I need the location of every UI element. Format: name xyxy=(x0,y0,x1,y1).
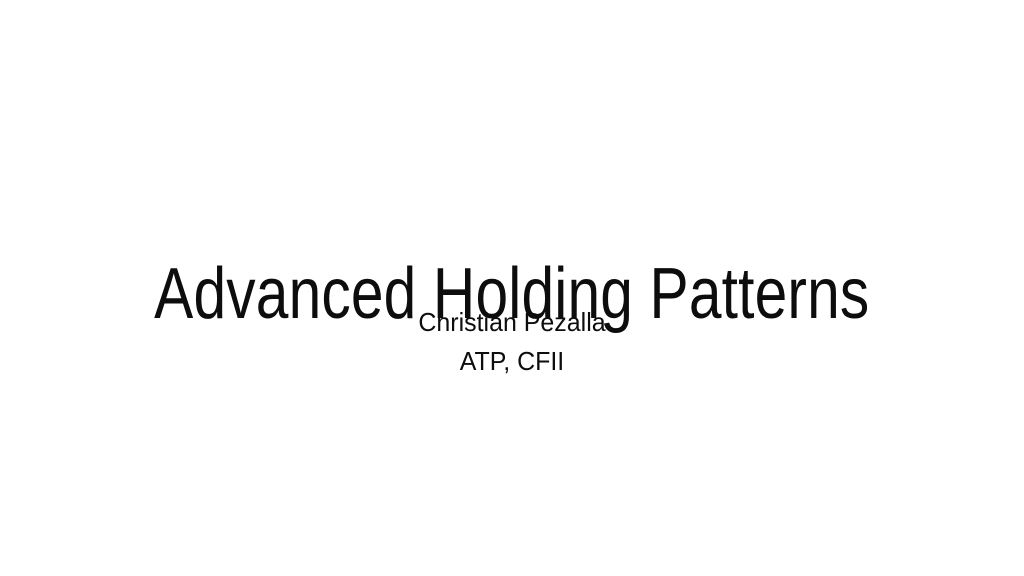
title-slide: Advanced Holding Patterns Christian Peza… xyxy=(0,0,1024,576)
subtitle-placeholder: Christian Pezalla ATP, CFII xyxy=(0,303,1024,381)
subtitle-line-credentials: ATP, CFII xyxy=(20,342,1003,381)
subtitle-line-author: Christian Pezalla xyxy=(20,303,1003,342)
